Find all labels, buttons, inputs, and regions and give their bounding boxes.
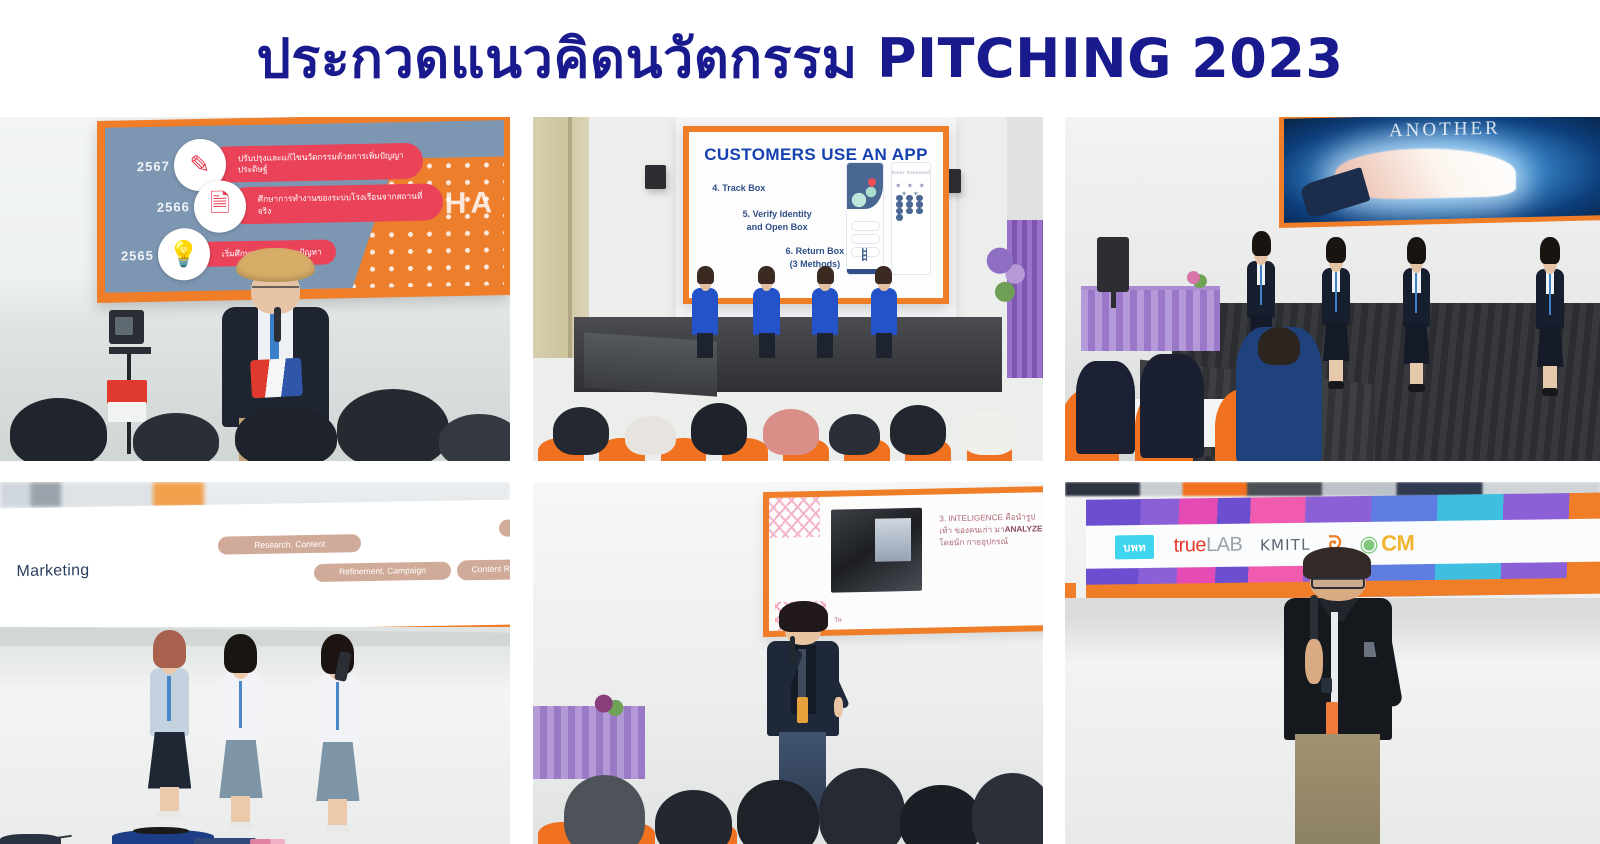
timeline-year: 2567 [137,158,170,174]
photo-4-image: Marketing Research, Content Refinement, … [0,482,510,844]
speaker-icon [645,165,665,189]
suit-cuff-graphic [1300,167,1372,220]
slide-line1-prefix: 3. INTELIGENCE [939,513,1005,523]
slide-line2-prefix: ของคนเก่า มา [954,525,1004,535]
judge-head [133,827,189,835]
photo-cell-6: บพท trueLAB KMITL ᘒ ◉CM [1065,482,1600,844]
slide-pill [499,518,510,537]
slide-pill: Refinement, Campaign [313,562,451,582]
photo-2-image: CUSTOMERS USE AN APP 4. Track Box 5. Ver… [533,117,1043,461]
photo-1-image: THA 2567 ✎ ปรับปรุงและแก้ไขนวัตกรรมด้วยก… [0,117,510,461]
timeline-year: 2566 [157,199,190,215]
bpt-logo: บพท [1114,533,1157,562]
microphone-icon [274,307,281,341]
slide-pill: Content R Partne [457,559,510,581]
qr-code-icon [862,248,867,260]
purple-table-skirt [1081,286,1220,351]
photo-3-image: ANOTHER [1065,117,1600,461]
decorative-crosshatch [769,492,820,538]
map-phone-mockup [846,162,884,275]
audience-silhouettes [0,372,510,461]
poster-page: ประกวดแนวคิดนวัตกรรม PITCHING 2023 THA 2… [0,0,1600,844]
photo-cell-4: Marketing Research, Content Refinement, … [0,482,510,844]
device-photo [831,508,922,592]
flower-arrangement [589,692,630,721]
slide-line2-strong: ANALYZE [1004,524,1042,534]
speaker-figure [1279,547,1397,844]
foreground-judges [0,764,510,844]
audience-head [0,834,61,844]
flower-arrangement [1183,268,1210,292]
passcode-label: Enter Password [892,170,931,175]
slide-section-label: Marketing [16,562,89,581]
photo-cell-1: THA 2567 ✎ ปรับปรุงและแก้ไขนวัตกรรมด้วยก… [0,117,510,461]
presentation-screen-4: Marketing Research, Content Refinement, … [0,499,510,642]
truelab-true: true [1174,535,1206,557]
judge-figure [1076,361,1135,454]
judge-head [1258,327,1301,365]
judge-figure [1140,354,1204,457]
presenter-figure [752,268,781,357]
passcode-phone-mockup: Enter Password ✶ ✶ ✶ ✶ ✶ [891,162,932,275]
slide-heading: ANOTHER [1284,117,1600,145]
student-figure [1402,237,1431,392]
presenter-figure [691,268,720,357]
slide-pill: Research, Content [218,534,361,554]
truelab-logo: trueLAB [1174,534,1243,558]
student-figure [1322,237,1351,388]
slide-bullet: 6. Return Box (3 Methods) [786,245,845,270]
audience-seating [533,358,1043,461]
photo-collage-grid: THA 2567 ✎ ปรับปรุงและแก้ไขนวัตกรรมด้วยก… [0,117,1600,844]
page-title-bar: ประกวดแนวคิดนวัตกรรม PITCHING 2023 [0,0,1600,117]
photo-5-image: 3. INTELIGENCE คือนำรูปเท้า ของคนเก่า มา… [533,482,1043,844]
slide-line2-suffix: โดยนัก [939,538,964,548]
monitor-icon [1097,237,1129,292]
timeline-text: ศึกษาการทำงานของระบบโรงเรือนจากสถานที่จร… [228,184,443,225]
truelab-lab: LAB [1206,534,1242,557]
keypad-grid [896,195,925,221]
flower-arrangement [245,839,296,844]
flower-arrangement [982,234,1033,323]
slide-body-text: 3. INTELIGENCE คือนำรูปเท้า ของคนเก่า มา… [939,511,1043,550]
monitor-icon [109,310,144,345]
slide-bullet: 4. Track Box [712,182,765,195]
watch-icon [1321,678,1332,693]
microphone-icon [790,636,795,664]
photo-cell-5: 3. INTELIGENCE คือนำรูปเท้า ของคนเก่า มา… [533,482,1043,844]
glasses-icon [1311,577,1365,589]
photo-6-image: บพท trueLAB KMITL ᘒ ◉CM [1065,482,1600,844]
presenter-figure [870,268,899,357]
document-search-icon: 🗎 [194,180,246,233]
slide-3-surface: ANOTHER [1284,117,1600,223]
presenter-figure [811,268,840,357]
lightbulb-idea-icon: 💡 [158,228,210,281]
photo-cell-2: CUSTOMERS USE AN APP 4. Track Box 5. Ver… [533,117,1043,461]
audience-silhouettes [533,721,1043,844]
slide-line3: กายอุปกรณ์ [966,537,1007,547]
presentation-screen-3: ANOTHER [1279,117,1600,228]
photo-cell-3: ANOTHER [1065,117,1600,461]
slide-bullet: 5. Verify Identity and Open Box [743,208,812,233]
page-title: ประกวดแนวคิดนวัตกรรม PITCHING 2023 [256,32,1343,86]
timeline-year: 2565 [121,248,154,264]
student-figure [1536,237,1565,395]
